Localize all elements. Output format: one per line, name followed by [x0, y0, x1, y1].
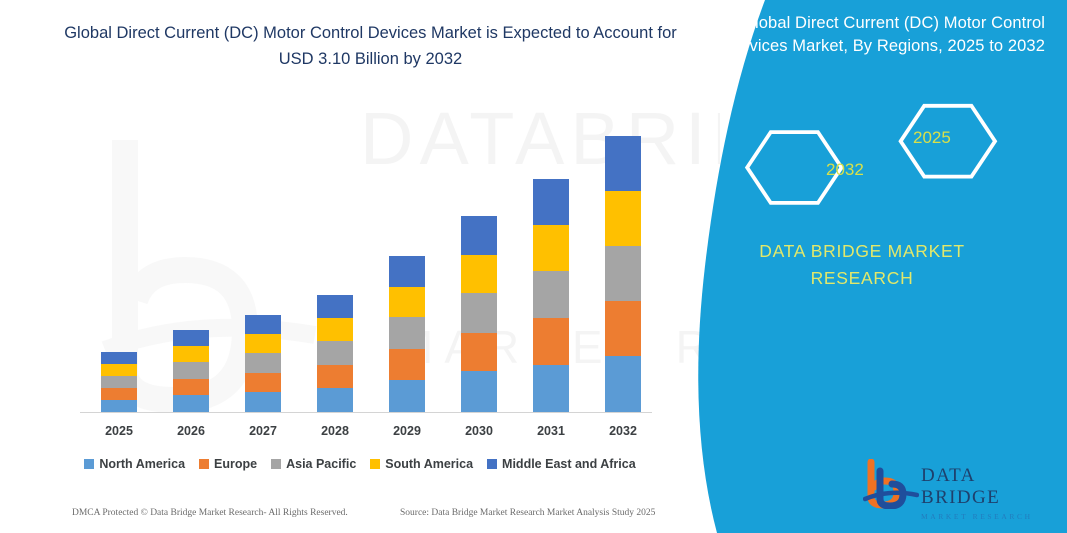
legend-label: Asia Pacific [286, 457, 356, 471]
x-axis-tick-2032: 2032 [587, 424, 659, 438]
x-axis-tick-2031: 2031 [515, 424, 587, 438]
legend-item[interactable]: Asia Pacific [271, 457, 356, 471]
bar-segment [389, 349, 425, 381]
bar-segment [605, 301, 641, 356]
bar-segment [245, 392, 281, 412]
bar-segment [245, 353, 281, 372]
legend-label: Middle East and Africa [502, 457, 636, 471]
bar-segment [533, 318, 569, 364]
footer-source: Source: Data Bridge Market Research Mark… [400, 508, 655, 518]
x-axis-tick-2028: 2028 [299, 424, 371, 438]
bar-segment [605, 136, 641, 191]
right-info-panel: Global Direct Current (DC) Motor Control… [667, 0, 1067, 533]
stacked-bar-plot: 20252026202720282029203020312032 [0, 0, 720, 470]
bar-segment [461, 293, 497, 332]
footer: DMCA Protected © Data Bridge Market Rese… [0, 508, 700, 528]
bar-segment [245, 315, 281, 334]
legend-item[interactable]: North America [84, 457, 185, 471]
x-axis-tick-2025: 2025 [83, 424, 155, 438]
hexagon-label-2025: 2025 [913, 128, 951, 148]
legend-swatch-icon [271, 459, 281, 469]
bar-segment [389, 380, 425, 412]
legend-label: South America [385, 457, 473, 471]
x-axis-line [80, 412, 652, 413]
legend-item[interactable]: South America [370, 457, 473, 471]
bar-segment [533, 365, 569, 412]
bar-segment [101, 376, 137, 388]
dbmr-logo: DATA BRIDGE MARKET RESEARCH [863, 459, 1049, 513]
bar-segment [605, 191, 641, 246]
bar-segment [389, 256, 425, 287]
bar-segment [101, 352, 137, 364]
panel-title: Global Direct Current (DC) Motor Control… [697, 12, 1045, 58]
bar-segment [389, 287, 425, 318]
chart-infographic: DATABRIDGE MARKET RESEARCH Global Direct… [0, 0, 1067, 533]
bar-segment [173, 330, 209, 346]
bar-segment [461, 333, 497, 372]
bar-segment [101, 364, 137, 376]
dbmr-logo-sub-text: MARKET RESEARCH [921, 512, 1049, 521]
panel-brand-line-1: DATA BRIDGE MARKET [677, 238, 1047, 265]
x-axis-tick-2029: 2029 [371, 424, 443, 438]
bar-segment [317, 388, 353, 412]
bar-segment [461, 371, 497, 412]
chart-legend: North AmericaEuropeAsia PacificSouth Ame… [0, 457, 720, 471]
panel-brand: DATA BRIDGE MARKET RESEARCH [677, 238, 1047, 292]
footer-copyright: DMCA Protected © Data Bridge Market Rese… [72, 508, 348, 518]
bar-segment [101, 388, 137, 400]
x-axis-tick-2026: 2026 [155, 424, 227, 438]
bar-segment [605, 356, 641, 412]
bar-segment [533, 179, 569, 225]
bar-segment [173, 395, 209, 412]
bar-segment [317, 365, 353, 389]
bar-segment [317, 341, 353, 364]
x-axis-tick-2030: 2030 [443, 424, 515, 438]
legend-label: North America [99, 457, 185, 471]
legend-item[interactable]: Europe [199, 457, 257, 471]
bar-segment [317, 295, 353, 318]
bar-segment [173, 379, 209, 396]
legend-label: Europe [214, 457, 257, 471]
dbmr-logo-mark [863, 459, 919, 509]
bar-segment [317, 318, 353, 341]
dbmr-logo-main-text: DATA BRIDGE [921, 465, 1049, 509]
bar-segment [461, 255, 497, 293]
legend-swatch-icon [199, 459, 209, 469]
bar-segment [389, 317, 425, 348]
bar-segment [533, 225, 569, 271]
legend-swatch-icon [370, 459, 380, 469]
legend-swatch-icon [84, 459, 94, 469]
panel-brand-line-2: RESEARCH [677, 265, 1047, 292]
hexagon-shapes [687, 98, 1047, 218]
bar-segment [533, 271, 569, 318]
legend-swatch-icon [487, 459, 497, 469]
bar-segment [605, 246, 641, 301]
chart-area: Global Direct Current (DC) Motor Control… [0, 0, 720, 533]
bar-segment [173, 362, 209, 379]
hexagon-group: 2025 2032 [687, 98, 1047, 218]
bar-segment [245, 334, 281, 353]
bar-segment [101, 400, 137, 412]
bar-segment [173, 346, 209, 363]
bar-segment [461, 216, 497, 254]
legend-item[interactable]: Middle East and Africa [487, 457, 636, 471]
x-axis-tick-2027: 2027 [227, 424, 299, 438]
hexagon-label-2032: 2032 [826, 160, 864, 180]
bar-segment [245, 373, 281, 393]
